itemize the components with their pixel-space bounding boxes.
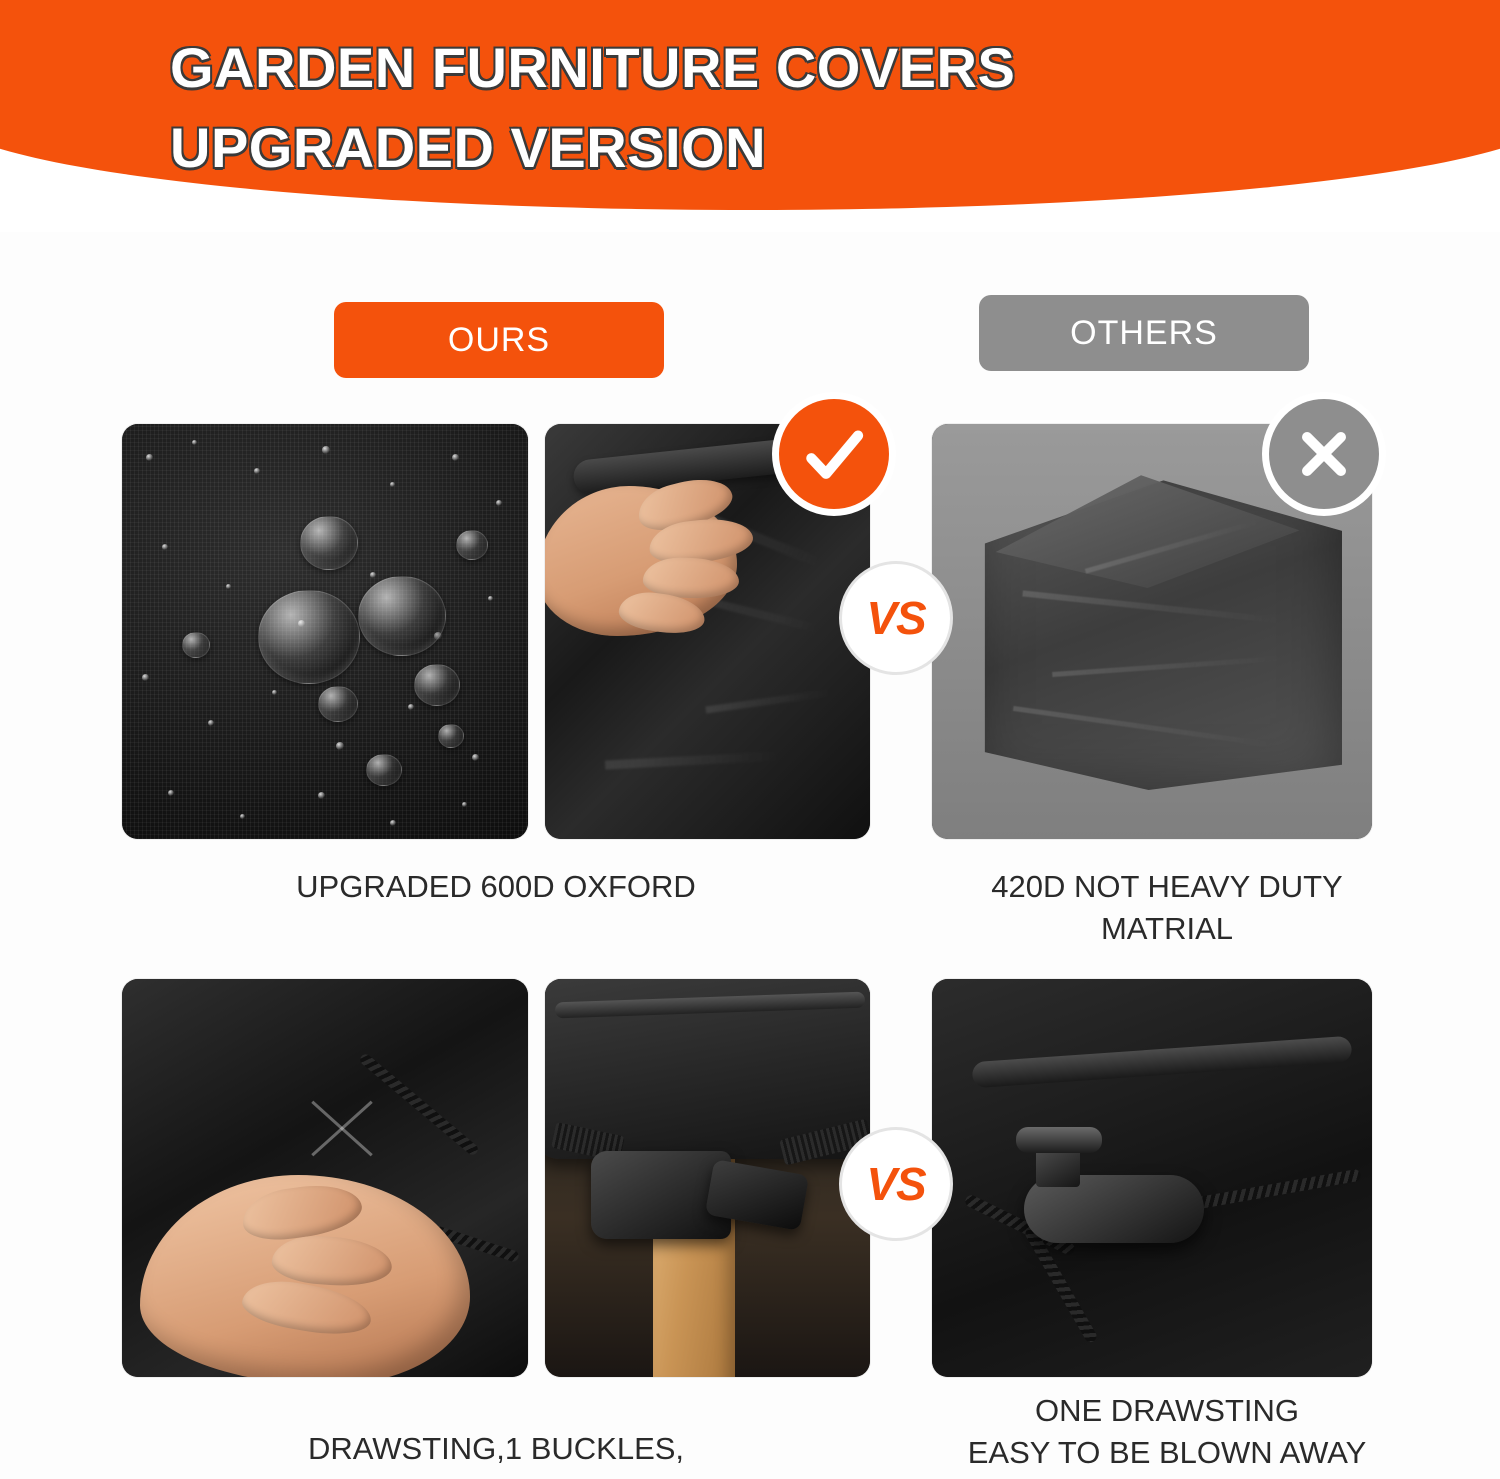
image-waterproof-fabric	[122, 424, 528, 839]
caption-ours-bottom: DRAWSTING,1 BUCKLES,	[122, 1428, 870, 1470]
page-title-line-1: GARDEN FURNITURE COVERS	[170, 36, 1015, 99]
vs-badge-bottom-text: VS	[866, 1157, 925, 1211]
header-banner: GARDEN FURNITURE COVERS UPGRADED VERSION	[0, 0, 1500, 232]
image-drawstring-ball	[122, 979, 528, 1377]
check-icon	[779, 399, 889, 509]
image-buckle-strap	[545, 979, 870, 1377]
vs-badge-top-text: VS	[866, 591, 925, 645]
label-ours-text: OURS	[448, 321, 550, 360]
image-single-drawstring	[932, 979, 1372, 1377]
caption-ours-top: UPGRADED 600D OXFORD	[122, 866, 870, 908]
product-infographic-page: GARDEN FURNITURE COVERS UPGRADED VERSION…	[0, 0, 1500, 1479]
caption-others-bottom: ONE DRAWSTING EASY TO BE BLOWN AWAY	[932, 1390, 1402, 1474]
vs-badge-bottom: VS	[842, 1130, 950, 1238]
side-release-buckle	[591, 1137, 811, 1267]
x-stitch-reinforcement	[302, 1089, 382, 1169]
label-others: OTHERS	[979, 295, 1309, 371]
label-ours: OURS	[334, 302, 664, 378]
x-mark-icon	[1269, 399, 1379, 509]
vs-badge-top: VS	[842, 564, 950, 672]
toggle-cap	[1016, 1127, 1102, 1153]
caption-others-top: 420D NOT HEAVY DUTY MATRIAL	[932, 866, 1402, 950]
label-others-text: OTHERS	[1070, 314, 1218, 353]
page-title-line-2: UPGRADED VERSION	[170, 108, 1370, 188]
page-title: GARDEN FURNITURE COVERS UPGRADED VERSION	[170, 28, 1370, 187]
